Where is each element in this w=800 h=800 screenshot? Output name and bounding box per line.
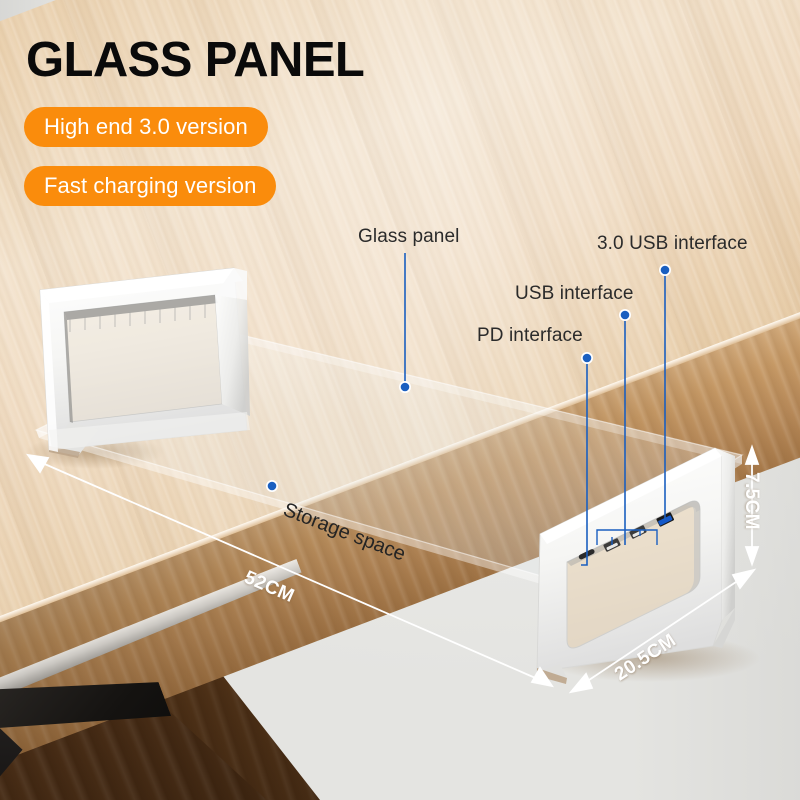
callout-label-pd-interface: PD interface [477, 325, 583, 347]
product-infographic: GLASS PANEL High end 3.0 version Fast ch… [0, 0, 800, 800]
page-title: GLASS PANEL [26, 36, 364, 85]
dimension-label-7-5cm: 7.5CM [740, 472, 762, 530]
callout-label-glass-panel: Glass panel [358, 226, 459, 248]
badge-high-end-version: High end 3.0 version [24, 107, 268, 147]
callout-label-usb-interface: USB interface [515, 283, 634, 305]
callout-label-3-0-usb-interface: 3.0 USB interface [597, 233, 748, 255]
badge-fast-charging-version: Fast charging version [24, 166, 276, 206]
